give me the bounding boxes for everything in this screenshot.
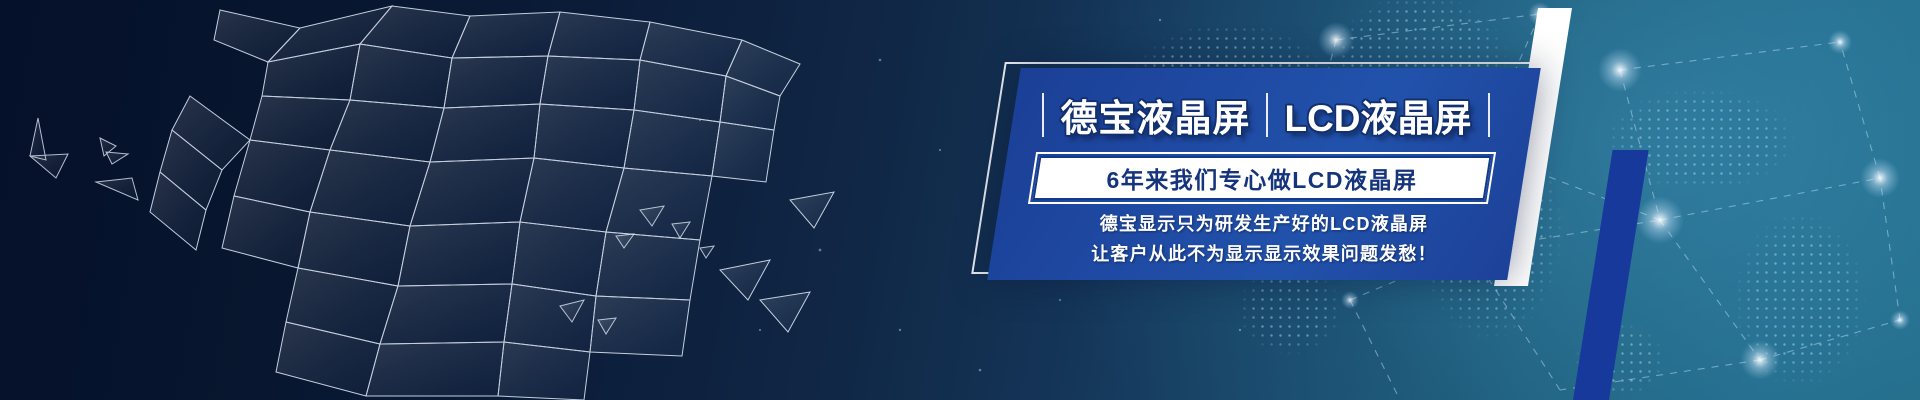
subtitle-line-2: 让客户从此不为显示显示效果问题发愁！ xyxy=(1004,240,1524,266)
headline-right-rule xyxy=(1488,93,1490,137)
slogan-text: 6年来我们专心做LCD液晶屏 xyxy=(1036,156,1488,200)
brand-headline: 德宝液晶屏 xyxy=(1044,88,1266,142)
promo-panel-content: 德宝液晶屏 LCD液晶屏 6年来我们专心做LCD液晶屏 德宝显示只为研发生产好的… xyxy=(1004,68,1524,280)
subtitle-line-1: 德宝显示只为研发生产好的LCD液晶屏 xyxy=(1004,210,1524,236)
product-headline: LCD液晶屏 xyxy=(1268,88,1487,142)
promo-banner: 德宝液晶屏 LCD液晶屏 6年来我们专心做LCD液晶屏 德宝显示只为研发生产好的… xyxy=(0,0,1920,400)
low-poly-hand-wireframe xyxy=(150,6,834,400)
headline-row: 德宝液晶屏 LCD液晶屏 xyxy=(1018,86,1514,144)
